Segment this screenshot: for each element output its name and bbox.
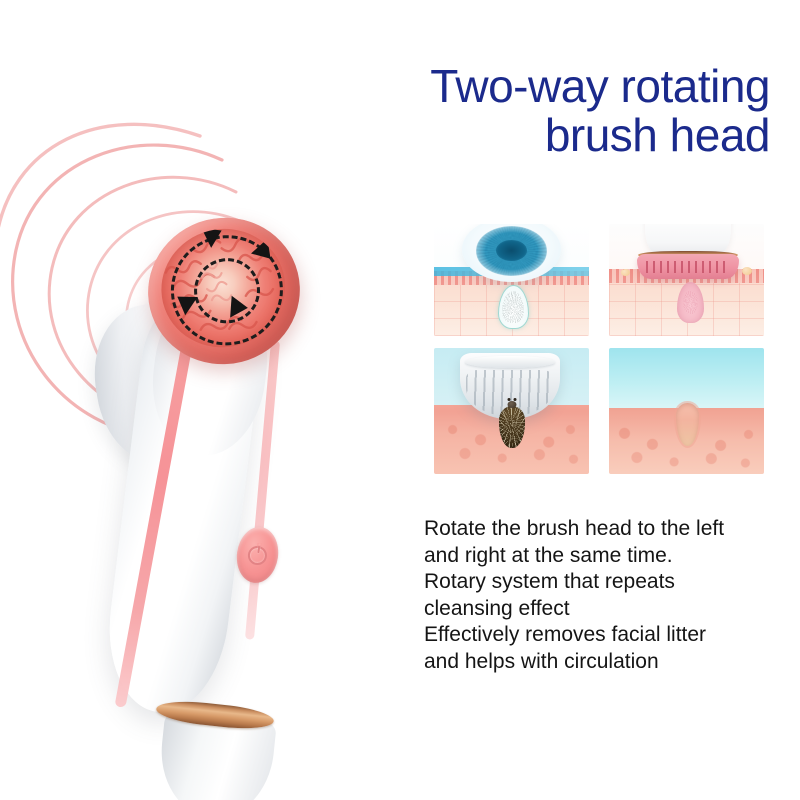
power-icon bbox=[247, 544, 268, 565]
feature-description: Rotate the brush head to the left and ri… bbox=[424, 516, 784, 675]
rotation-arrow-inner bbox=[230, 296, 248, 319]
feature-image-grid bbox=[434, 224, 764, 494]
clogged-pore bbox=[499, 406, 525, 448]
dirt-droplet bbox=[677, 282, 703, 322]
bristle-core bbox=[496, 240, 527, 261]
feature-panel-clean-pore bbox=[609, 348, 764, 474]
feature-panel-bristle-brush bbox=[434, 224, 589, 336]
product-marketing-image: Two-way rotating brush head bbox=[0, 0, 800, 800]
pore-debris bbox=[507, 401, 516, 408]
power-button[interactable] bbox=[233, 524, 281, 585]
sebum-particle bbox=[742, 267, 752, 275]
silicone-ridges bbox=[646, 261, 730, 273]
suction-cup-ring bbox=[465, 356, 555, 369]
feature-panel-suction-head bbox=[434, 348, 589, 474]
feature-panel-silicone-brush bbox=[609, 224, 764, 336]
product-image bbox=[0, 90, 400, 730]
